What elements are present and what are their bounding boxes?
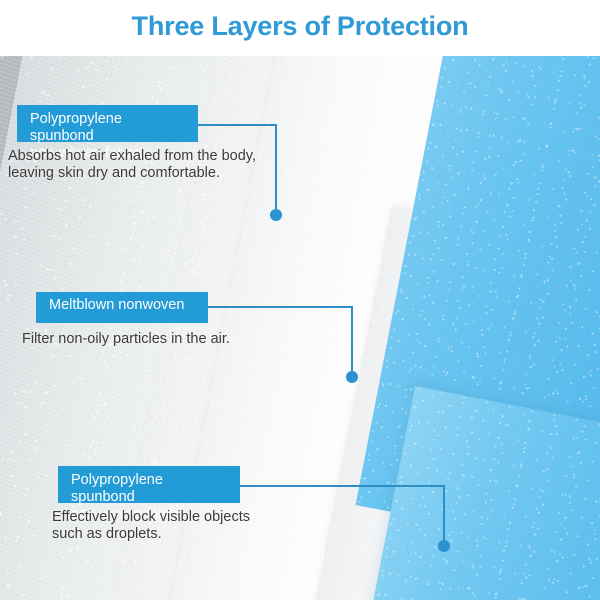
connector-line-vertical-middle bbox=[351, 306, 353, 378]
connector-line-horizontal-inner bbox=[240, 485, 445, 487]
connector-line-horizontal-outer bbox=[198, 124, 277, 126]
connector-line-horizontal-middle bbox=[208, 306, 353, 308]
connector-line-vertical-inner bbox=[443, 485, 445, 547]
page-title: Three Layers of Protection bbox=[0, 11, 600, 42]
callout-tag-middle-layer[interactable]: Meltblown nonwoven bbox=[36, 292, 208, 323]
connector-dot-outer bbox=[270, 209, 282, 221]
connector-dot-middle bbox=[346, 371, 358, 383]
connector-line-vertical-outer bbox=[275, 124, 277, 216]
callout-description-outer-layer: Absorbs hot air exhaled from the body, l… bbox=[8, 148, 288, 182]
callout-description-inner-layer: Effectively block visible objects such a… bbox=[52, 509, 332, 543]
callout-tag-inner-layer[interactable]: Polypropylene spunbond non-woven fabric bbox=[58, 466, 240, 503]
callout-description-middle-layer: Filter non-oily particles in the air. bbox=[22, 331, 302, 348]
connector-dot-inner bbox=[438, 540, 450, 552]
callout-tag-outer-layer[interactable]: Polypropylene spunbond non-woven fabric bbox=[17, 105, 198, 142]
infographic-root: Three Layers of Protection Polypropylene… bbox=[0, 0, 600, 600]
header-band: Three Layers of Protection bbox=[0, 0, 600, 56]
